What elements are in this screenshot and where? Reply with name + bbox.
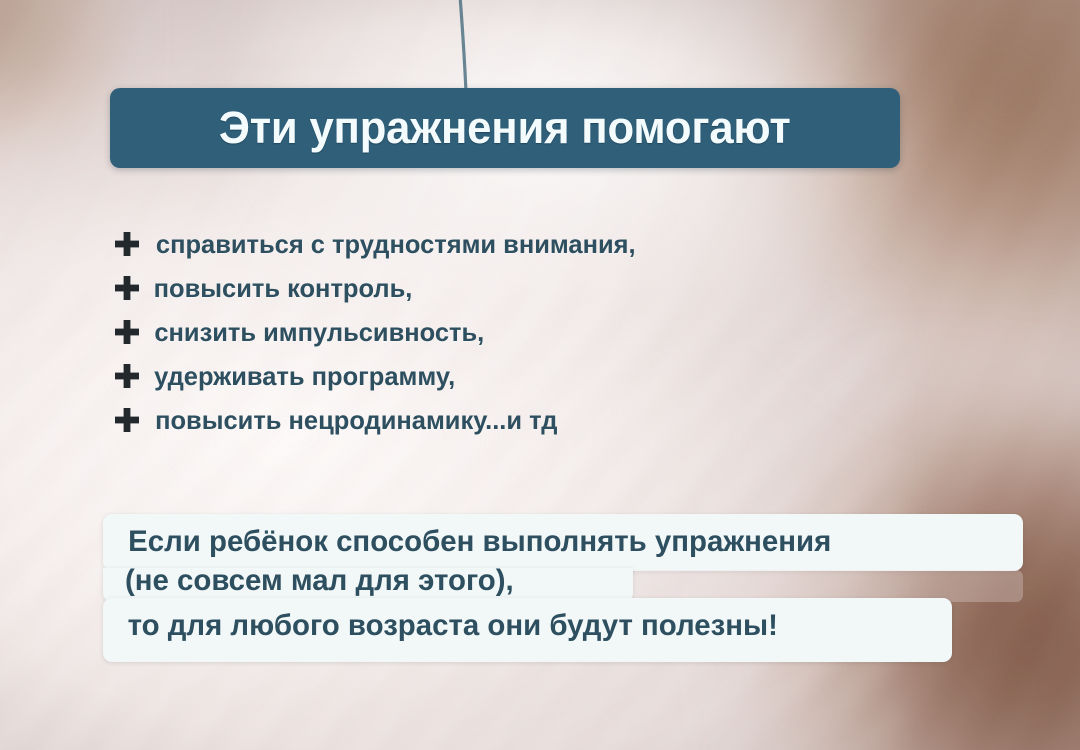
conclusion-line-3: то для любого возраста они будут полезны… <box>128 609 778 643</box>
image-canvas: Эти упражнения помогают справиться с тру… <box>0 0 1080 750</box>
hanging-cord-icon <box>452 0 474 92</box>
list-item-label: повысить контроль, <box>154 273 413 304</box>
plus-icon <box>112 361 142 391</box>
conclusion-line-2: (не совсем мал для этого), <box>125 564 514 598</box>
list-item-label: повысить нецродинамику...и тд <box>155 405 557 436</box>
list-item-label: удерживать программу, <box>154 361 455 392</box>
plus-icon <box>112 273 142 303</box>
benefits-list: справиться с трудностями внимания, повыс… <box>112 222 932 442</box>
plus-icon <box>112 317 142 347</box>
list-item: удерживать программу, <box>112 354 932 398</box>
list-item-label: снизить импульсивность, <box>154 317 484 348</box>
conclusion-line-1: Если ребёнок способен выполнять упражнен… <box>128 525 831 559</box>
list-item: снизить импульсивность, <box>112 310 932 354</box>
list-item-label: справиться с трудностями внимания, <box>156 229 636 260</box>
plus-icon <box>112 229 142 259</box>
title-banner: Эти упражнения помогают <box>110 88 900 168</box>
list-item: повысить контроль, <box>112 266 932 310</box>
plus-icon <box>112 405 142 435</box>
list-item: повысить нецродинамику...и тд <box>112 398 932 442</box>
list-item: справиться с трудностями внимания, <box>112 222 932 266</box>
page-title: Эти упражнения помогают <box>219 102 791 154</box>
